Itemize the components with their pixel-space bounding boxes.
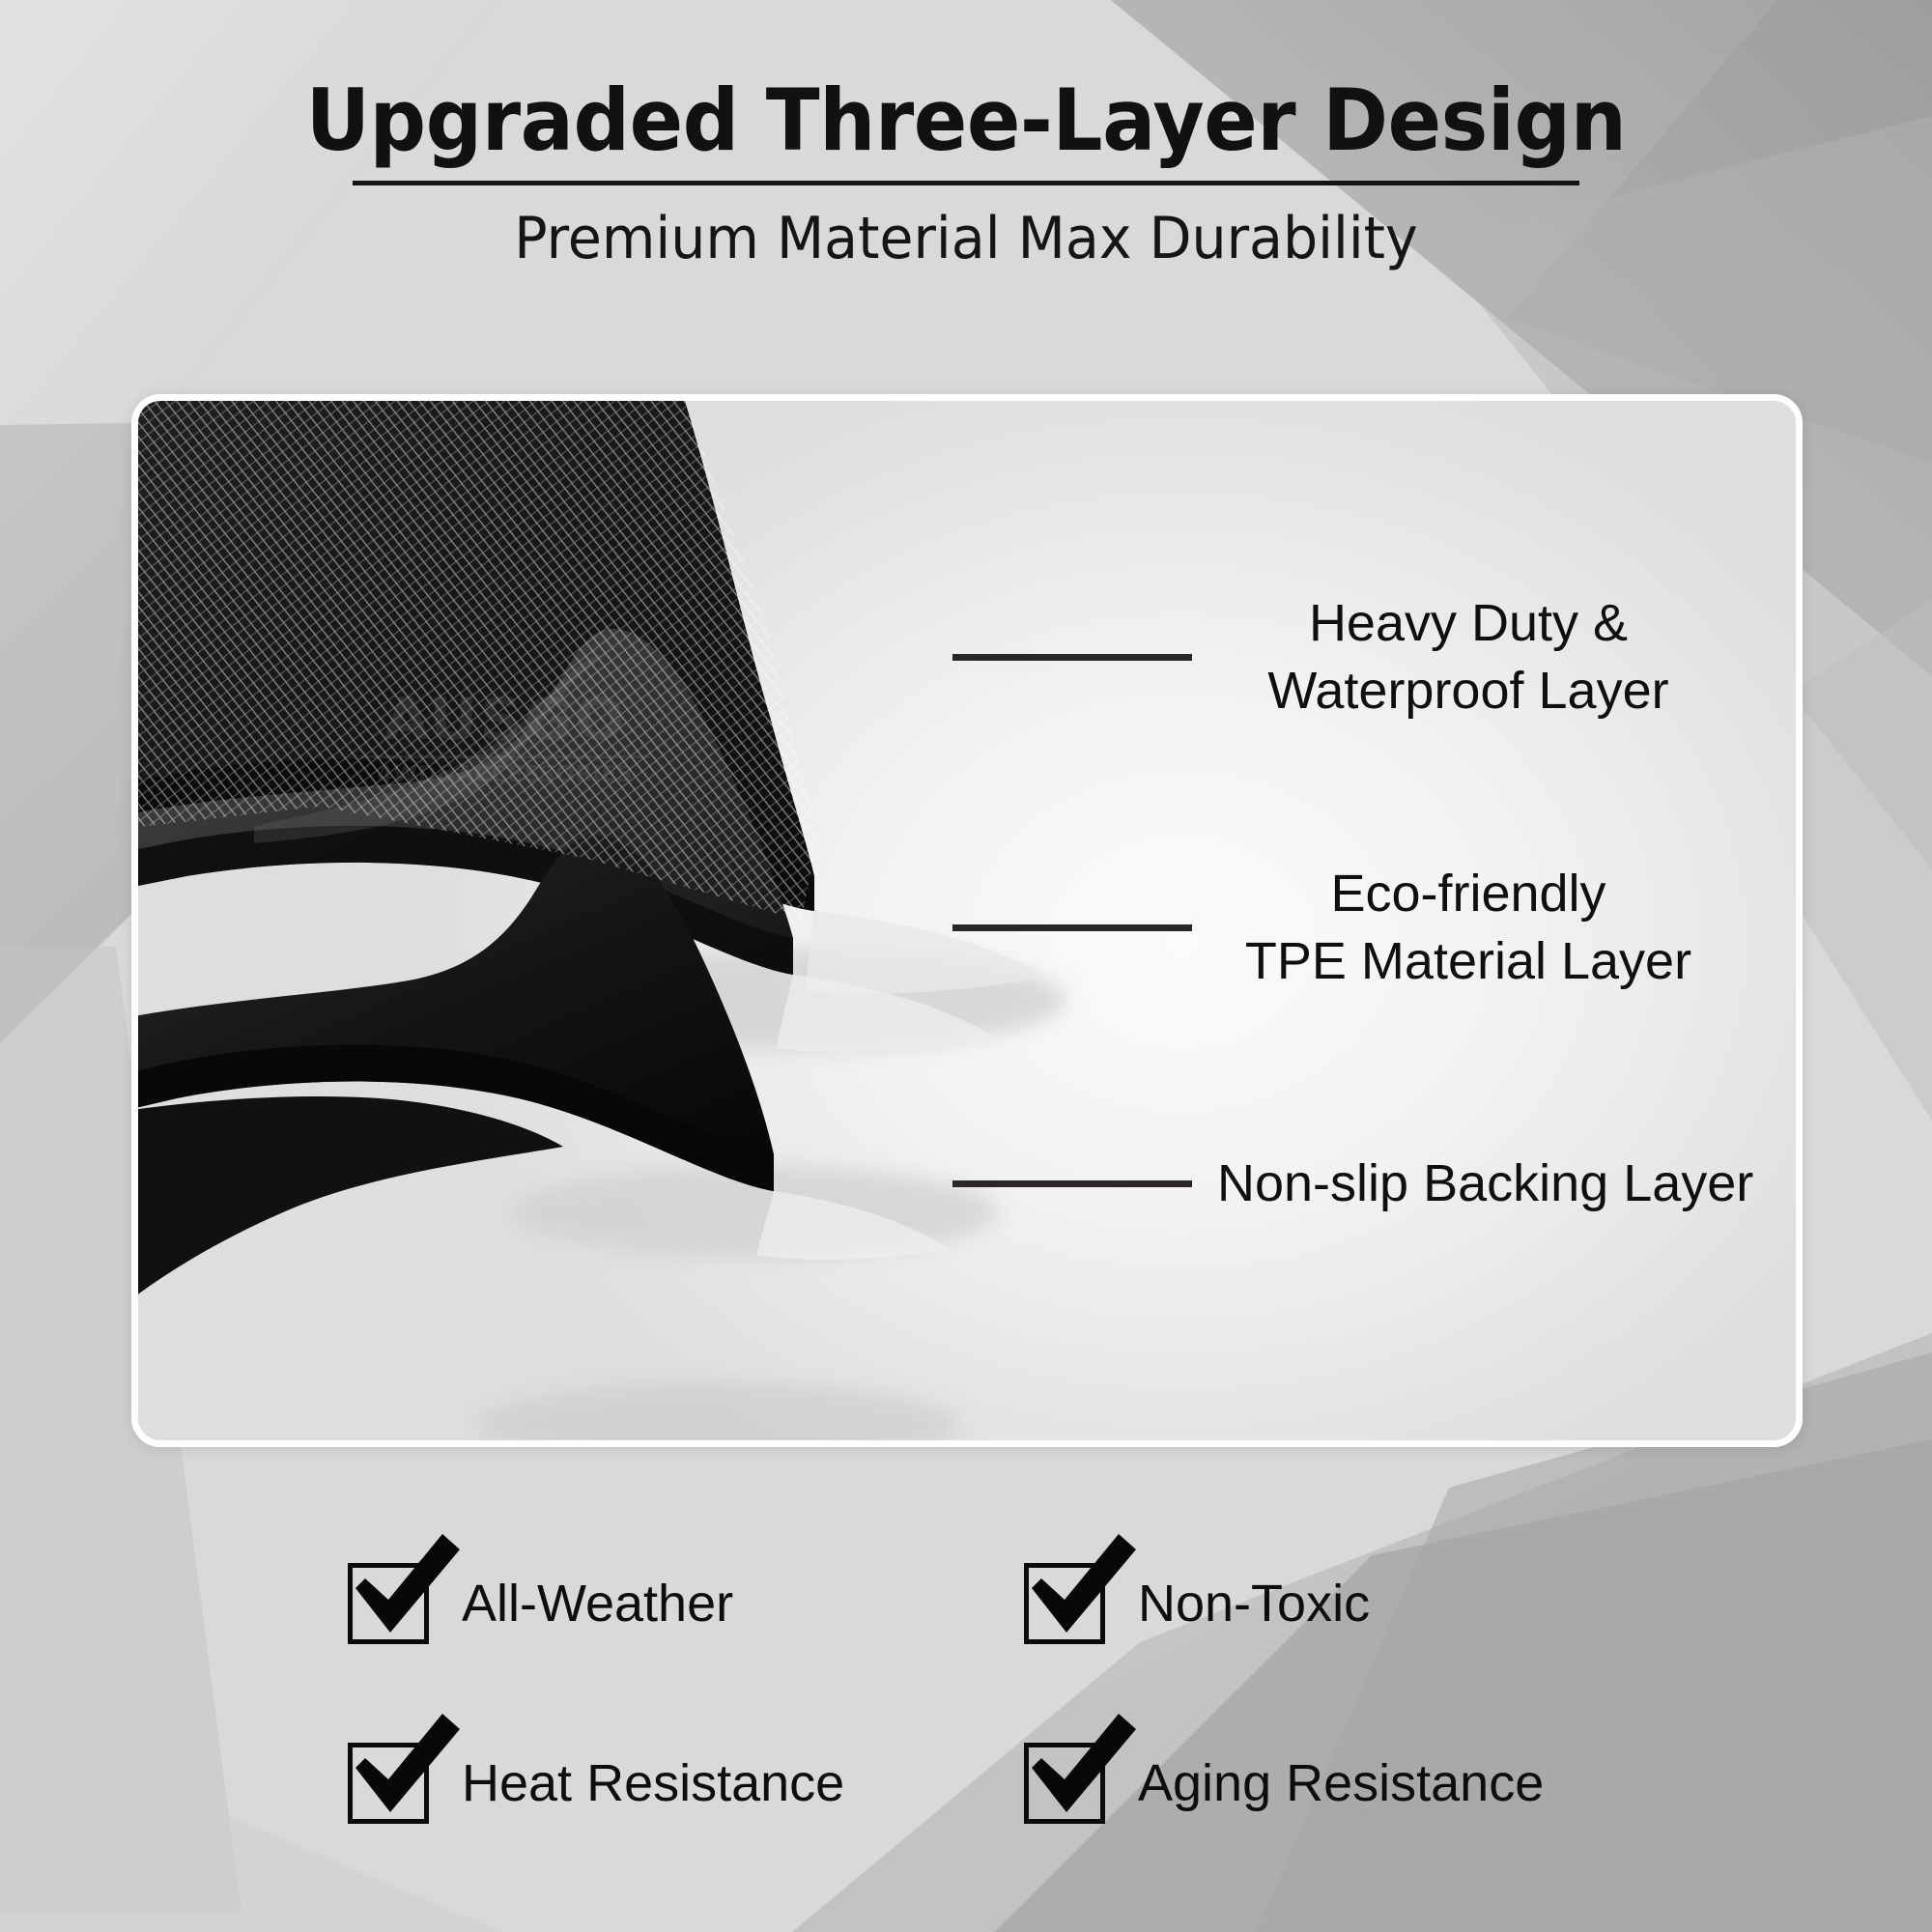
page-subtitle: Premium Material Max Durability	[48, 185, 1884, 270]
callout-label-line1: Heavy Duty &	[1309, 594, 1628, 652]
feature-item: Heat Resistance	[348, 1733, 947, 1833]
leader-line-icon	[952, 654, 1192, 661]
checkmark-icon	[342, 1532, 468, 1648]
callout-label-line1: Non-slip Backing Layer	[1217, 1154, 1753, 1212]
feature-label: Non-Toxic	[1138, 1574, 1370, 1634]
callout-text: Eco-friendly TPE Material Layer	[1217, 860, 1719, 995]
page-title: Upgraded Three-Layer Design	[68, 0, 1864, 165]
feature-label: All-Weather	[462, 1574, 733, 1634]
callout-heavy-duty-waterproof: Heavy Duty & Waterproof Layer	[952, 589, 1719, 724]
feature-item: Aging Resistance	[1024, 1733, 1623, 1833]
callout-text: Heavy Duty & Waterproof Layer	[1217, 589, 1719, 724]
leader-line-icon	[952, 924, 1192, 931]
feature-item: All-Weather	[348, 1553, 947, 1654]
feature-label: Heat Resistance	[462, 1753, 844, 1813]
checkbox-checked[interactable]	[348, 1563, 429, 1644]
callout-label-line2: TPE Material Layer	[1217, 927, 1719, 995]
checkmark-icon	[1018, 1532, 1144, 1648]
feature-checklist: All-Weather Non-Toxic Heat Resistance	[348, 1553, 1623, 1833]
infographic-page: Upgraded Three-Layer Design Premium Mate…	[0, 0, 1932, 1932]
feature-label: Aging Resistance	[1138, 1753, 1544, 1813]
callout-non-slip-backing: Non-slip Backing Layer	[952, 1150, 1753, 1217]
callout-label-line2: Waterproof Layer	[1217, 657, 1719, 724]
leader-line-icon	[952, 1180, 1192, 1187]
checkbox-checked[interactable]	[1024, 1563, 1105, 1644]
checkmark-icon	[342, 1712, 468, 1828]
feature-item: Non-Toxic	[1024, 1553, 1623, 1654]
checkbox-checked[interactable]	[348, 1743, 429, 1824]
header: Upgraded Three-Layer Design Premium Mate…	[0, 0, 1932, 270]
callout-label-line1: Eco-friendly	[1330, 865, 1605, 923]
checkbox-checked[interactable]	[1024, 1743, 1105, 1824]
checkmark-icon	[1018, 1712, 1144, 1828]
callout-text: Non-slip Backing Layer	[1217, 1150, 1753, 1217]
callout-eco-friendly-tpe: Eco-friendly TPE Material Layer	[952, 860, 1719, 995]
